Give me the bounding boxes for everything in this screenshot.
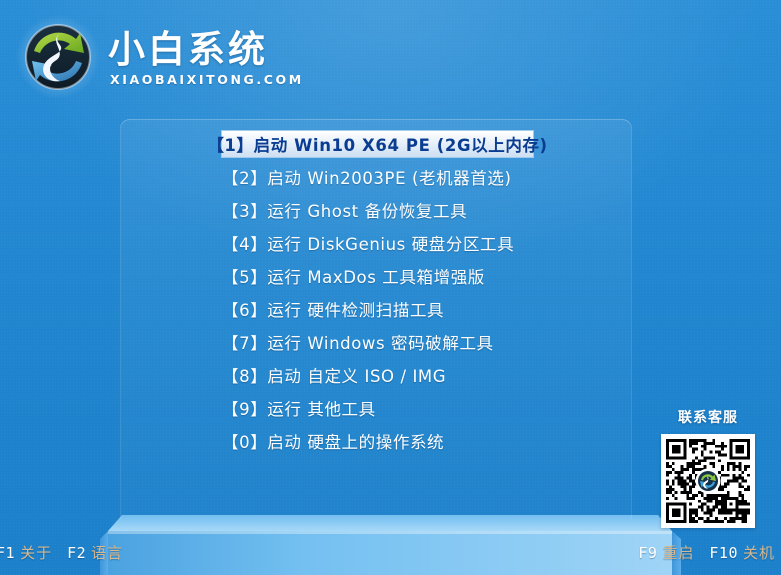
hotkeys-left: F1关于F2语言 [0,542,123,563]
hotkey-key: F1 [0,544,15,562]
boot-menu-item-label: 【3】运行 Ghost 备份恢复工具 [222,198,467,222]
brand-logo: 小白系统 XIAOBAIXITONG.COM [14,13,304,101]
boot-menu-item-label: 【7】运行 Windows 密码破解工具 [222,330,494,354]
boot-menu-item-3[interactable]: 【3】运行 Ghost 备份恢复工具 [120,197,632,223]
hotkey-key: F9 [638,544,657,562]
hotkey-label: 关于 [20,542,52,563]
hotkey-label: 重启 [662,542,694,563]
boot-menu-item-5[interactable]: 【5】运行 MaxDos 工具箱增强版 [120,263,632,289]
boot-menu-panel: 【1】启动 Win10 X64 PE (2G以上内存)【2】启动 Win2003… [120,119,632,519]
boot-menu-list[interactable]: 【1】启动 Win10 X64 PE (2G以上内存)【2】启动 Win2003… [120,131,632,461]
recycle-circle-logo-icon [14,13,102,101]
boot-menu-item-label: 【9】运行 其他工具 [222,396,376,420]
boot-menu-item-label: 【5】运行 MaxDos 工具箱增强版 [222,264,485,288]
boot-menu-item-8[interactable]: 【8】启动 自定义 ISO / IMG [120,362,632,388]
boot-menu-item-label: 【1】启动 Win10 X64 PE (2G以上内存) [207,132,547,156]
boot-menu-item-label: 【2】启动 Win2003PE (老机器首选) [222,165,512,189]
hotkey-f10[interactable]: F10关机 [709,542,775,563]
qr-center-logo-icon [697,470,719,492]
hotkey-label: 关机 [743,542,775,563]
hotkeys-right: F9重启F10关机 [638,542,775,563]
boot-menu-screen: 【1】启动 Win10 X64 PE (2G以上内存)【2】启动 Win2003… [0,0,781,575]
boot-menu-item-4[interactable]: 【4】运行 DiskGenius 硬盘分区工具 [120,230,632,256]
hotkey-f9[interactable]: F9重启 [638,542,694,563]
boot-menu-item-0[interactable]: 【0】启动 硬盘上的操作系统 [120,428,632,454]
boot-menu-item-1[interactable]: 【1】启动 Win10 X64 PE (2G以上内存) [222,131,533,157]
hotkey-bar: F1关于F2语言 F9重启F10关机 [0,542,781,566]
boot-menu-item-7[interactable]: 【7】运行 Windows 密码破解工具 [120,329,632,355]
qr-code-icon[interactable] [661,434,755,528]
brand-title: 小白系统 [108,29,304,71]
boot-menu-item-9[interactable]: 【9】运行 其他工具 [120,395,632,421]
boot-menu-item-6[interactable]: 【6】运行 硬件检测扫描工具 [120,296,632,322]
boot-menu-item-label: 【4】运行 DiskGenius 硬盘分区工具 [222,231,514,255]
contact-support-title: 联系客服 [660,408,756,428]
hotkey-key: F2 [67,544,86,562]
hotkey-key: F10 [709,544,738,562]
contact-support: 联系客服 [660,408,756,528]
brand-subtitle: XIAOBAIXITONG.COM [110,72,304,88]
boot-menu-item-label: 【0】启动 硬盘上的操作系统 [222,429,444,453]
hotkey-f1[interactable]: F1关于 [0,542,52,563]
brand-text: 小白系统 XIAOBAIXITONG.COM [108,29,304,88]
hotkey-f2[interactable]: F2语言 [67,542,123,563]
boot-menu-item-2[interactable]: 【2】启动 Win2003PE (老机器首选) [120,164,632,190]
boot-menu-item-label: 【8】启动 自定义 ISO / IMG [222,363,446,387]
boot-menu-item-label: 【6】运行 硬件检测扫描工具 [222,297,444,321]
hotkey-label: 语言 [91,542,123,563]
